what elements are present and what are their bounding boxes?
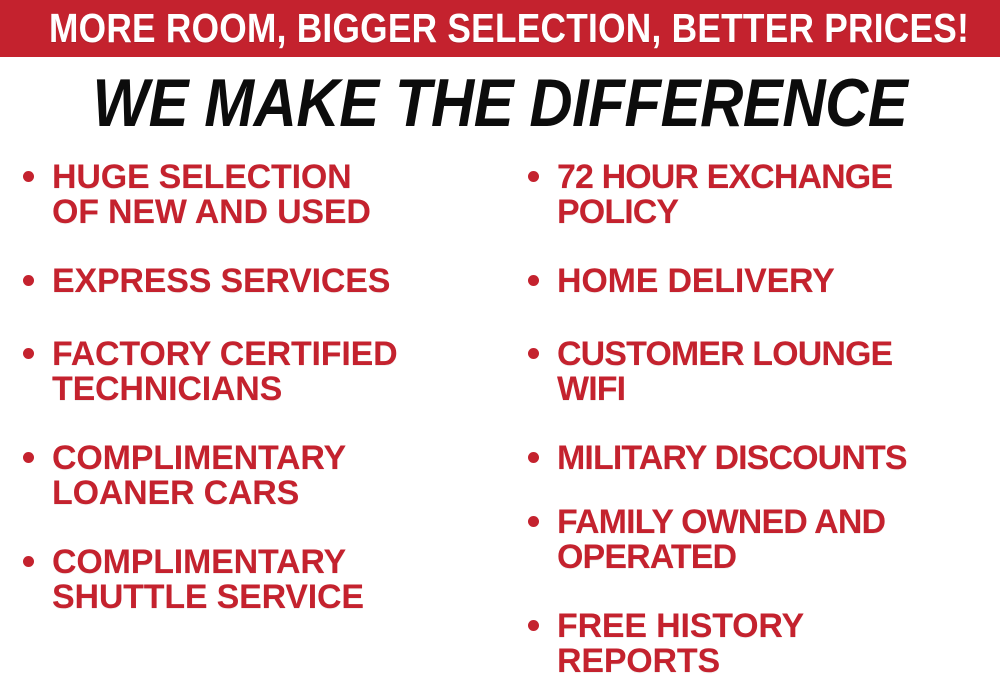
benefits-column-left: HUGE SELECTION OF NEW AND USED EXPRESS S… <box>0 160 500 694</box>
list-item: 72 HOUR EXCHANGE POLICY <box>500 160 1000 230</box>
list-item: MILITARY DISCOUNTS <box>500 441 1000 476</box>
headline-container: WE MAKE THE DIFFERENCE <box>0 62 1000 144</box>
bullet-dot-icon <box>528 275 539 286</box>
list-item: FREE HISTORY REPORTS <box>500 609 1000 679</box>
bullet-dot-icon <box>528 516 539 527</box>
bullet-dot-icon <box>528 620 539 631</box>
list-item-label: 72 HOUR EXCHANGE POLICY <box>557 160 1000 230</box>
bullet-dot-icon <box>528 171 539 182</box>
list-item-label: CUSTOMER LOUNGE WIFI <box>557 337 1000 407</box>
list-item-label: FACTORY CERTIFIED TECHNICIANS <box>52 337 500 407</box>
list-item-label: EXPRESS SERVICES <box>52 264 500 299</box>
top-banner: MORE ROOM, BIGGER SELECTION, BETTER PRIC… <box>0 0 1000 57</box>
banner-headline-text: MORE ROOM, BIGGER SELECTION, BETTER PRIC… <box>49 8 969 49</box>
page-title: WE MAKE THE DIFFERENCE <box>93 69 908 137</box>
bullet-dot-icon <box>23 452 34 463</box>
bullet-dot-icon <box>528 348 539 359</box>
benefits-columns: HUGE SELECTION OF NEW AND USED EXPRESS S… <box>0 160 1000 694</box>
list-item-label: FAMILY OWNED AND OPERATED <box>557 505 1000 575</box>
list-item: COMPLIMENTARY LOANER CARS <box>0 441 500 511</box>
bullet-dot-icon <box>23 275 34 286</box>
bullet-dot-icon <box>23 171 34 182</box>
bullet-dot-icon <box>23 556 34 567</box>
bullet-dot-icon <box>528 452 539 463</box>
list-item: HOME DELIVERY <box>500 264 1000 299</box>
list-item-label: HOME DELIVERY <box>557 264 1000 299</box>
list-item: FAMILY OWNED AND OPERATED <box>500 505 1000 575</box>
dealership-benefits-poster: MORE ROOM, BIGGER SELECTION, BETTER PRIC… <box>0 0 1000 694</box>
list-item: COMPLIMENTARY SHUTTLE SERVICE <box>0 545 500 615</box>
list-item-label: FREE HISTORY REPORTS <box>557 609 1000 679</box>
list-item-label: HUGE SELECTION OF NEW AND USED <box>52 160 500 230</box>
benefits-column-right: 72 HOUR EXCHANGE POLICY HOME DELIVERY CU… <box>500 160 1000 694</box>
list-item-label: MILITARY DISCOUNTS <box>557 441 1000 476</box>
list-item: FACTORY CERTIFIED TECHNICIANS <box>0 337 500 407</box>
list-item: EXPRESS SERVICES <box>0 264 500 299</box>
bullet-dot-icon <box>23 348 34 359</box>
list-item-label: COMPLIMENTARY SHUTTLE SERVICE <box>52 545 500 615</box>
list-item: CUSTOMER LOUNGE WIFI <box>500 337 1000 407</box>
list-item: HUGE SELECTION OF NEW AND USED <box>0 160 500 230</box>
list-item-label: COMPLIMENTARY LOANER CARS <box>52 441 500 511</box>
